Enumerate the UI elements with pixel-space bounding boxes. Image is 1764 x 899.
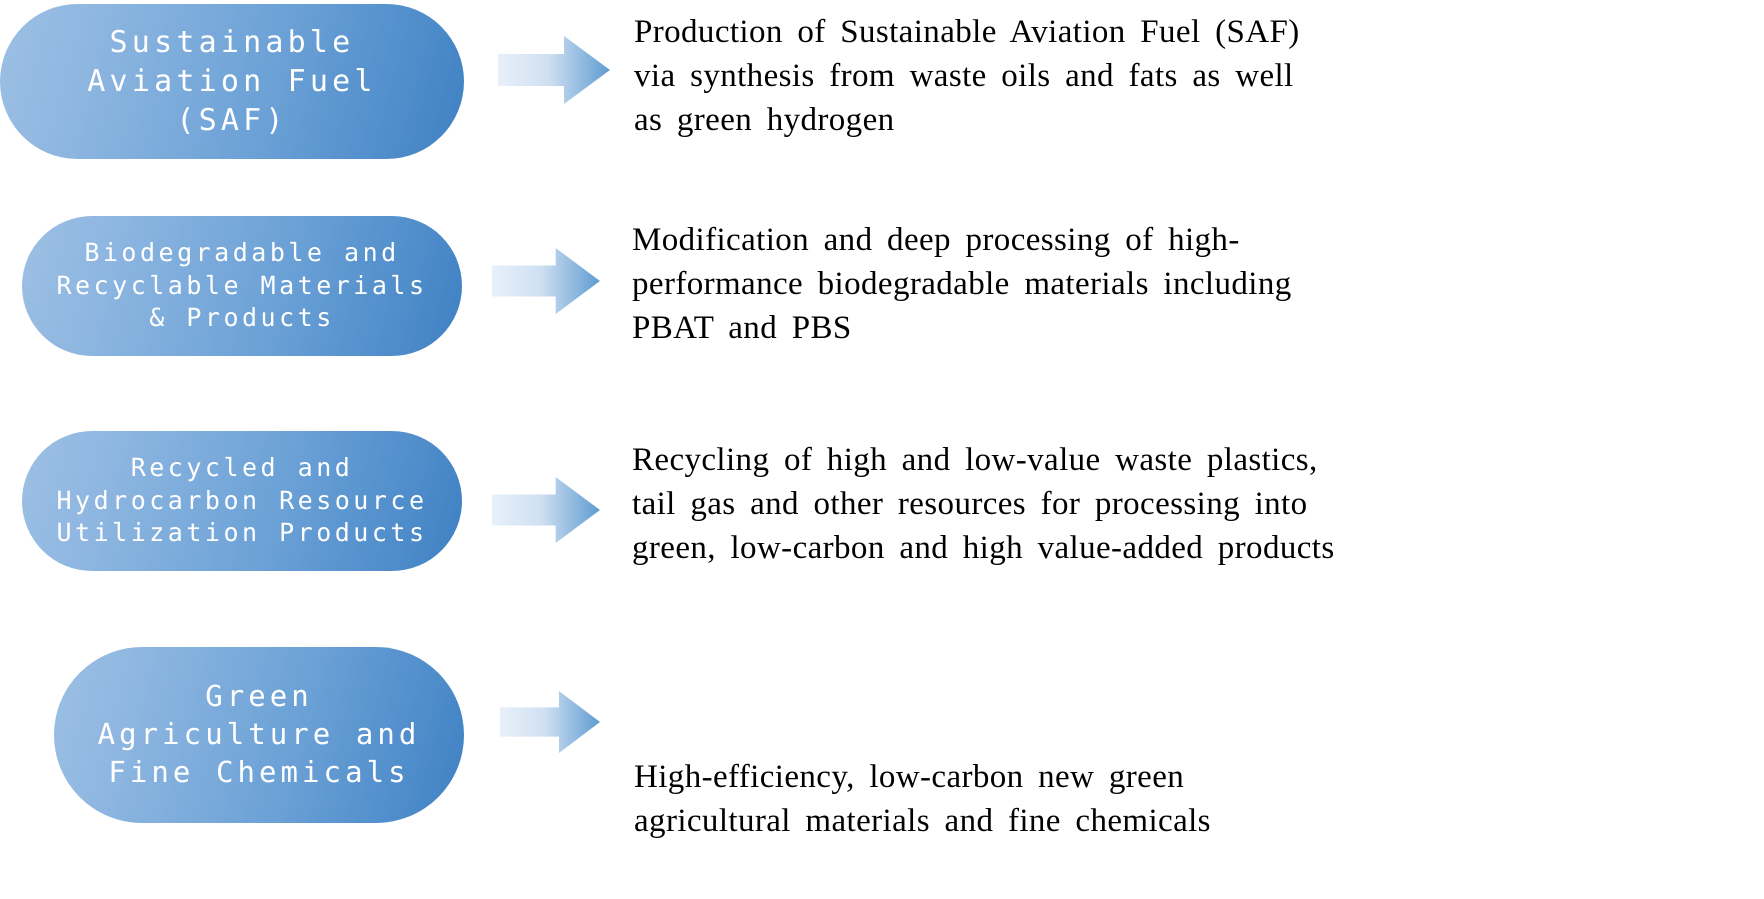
diagram-row: Recycled and Hydrocarbon Resource Utiliz… bbox=[0, 415, 1764, 645]
category-pill-label: Sustainable Aviation Fuel (SAF) bbox=[0, 23, 464, 140]
diagram-row: Sustainable Aviation Fuel (SAF) Producti… bbox=[0, 0, 1764, 200]
right-arrow-icon bbox=[500, 691, 600, 753]
description-text: Production of Sustainable Aviation Fuel … bbox=[634, 10, 1744, 143]
category-pill-label: Recycled and Hydrocarbon Resource Utiliz… bbox=[22, 452, 462, 550]
right-arrow-icon bbox=[498, 36, 610, 104]
category-pill-biodegradable-recyclable-materials[interactable]: Biodegradable and Recyclable Materials &… bbox=[22, 216, 462, 356]
category-pill-sustainable-aviation-fuel[interactable]: Sustainable Aviation Fuel (SAF) bbox=[0, 4, 464, 159]
category-pill-label: Green Agriculture and Fine Chemicals bbox=[54, 678, 464, 791]
category-pill-green-agriculture-fine-chemicals[interactable]: Green Agriculture and Fine Chemicals bbox=[54, 647, 464, 823]
diagram-canvas: Sustainable Aviation Fuel (SAF) Producti… bbox=[0, 0, 1764, 899]
description-text: High-efficiency, low-carbon new green ag… bbox=[634, 755, 1744, 843]
category-pill-recycled-hydrocarbon-resource-utilization[interactable]: Recycled and Hydrocarbon Resource Utiliz… bbox=[22, 431, 462, 571]
diagram-row: Green Agriculture and Fine Chemicals Hig… bbox=[0, 645, 1764, 899]
category-pill-label: Biodegradable and Recyclable Materials &… bbox=[22, 237, 462, 335]
description-text: Modification and deep processing of high… bbox=[632, 218, 1742, 351]
right-arrow-icon bbox=[492, 477, 600, 543]
diagram-row: Biodegradable and Recyclable Materials &… bbox=[0, 200, 1764, 415]
right-arrow-icon bbox=[492, 248, 600, 314]
description-text: Recycling of high and low-value waste pl… bbox=[632, 438, 1752, 571]
